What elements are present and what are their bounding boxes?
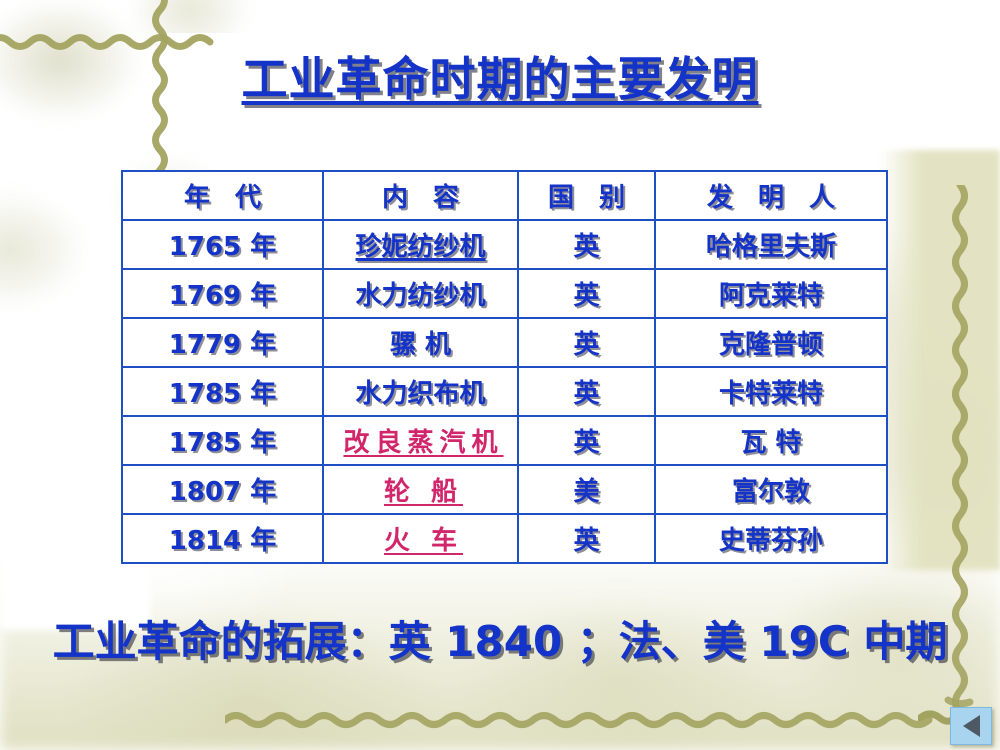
cell-text: 阿克莱特 [719,281,823,311]
cell-inventor-6: 史蒂芬孙 [655,514,887,563]
cell-year-3: 1785 年 [122,367,323,416]
cell-inventor-5: 富尔敦 [655,465,887,514]
cell-year-5: 1807 年 [122,465,323,514]
cell-text: 哈格里夫斯 [706,232,836,262]
cell-text: 富尔敦 [732,477,810,507]
cell-item-6: 火 车 [323,514,518,563]
cell-inventor-1: 阿克莱特 [655,269,887,318]
cell-item-0: 珍妮纺纱机 [323,220,518,269]
cell-inventor-2: 克隆普顿 [655,318,887,367]
background-khaki-panel [880,150,1000,570]
cell-inventor-4: 瓦 特 [655,416,887,465]
cell-year-6: 1814 年 [122,514,323,563]
cell-year-2: 1779 年 [122,318,323,367]
cell-text: 火 车 [378,520,463,557]
cell-nation-2: 英 [518,318,655,367]
cell-item-5: 轮 船 [323,465,518,514]
cell-year-4: 1785 年 [122,416,323,465]
table-row: 1814 年火 车英史蒂芬孙 [122,514,887,563]
column-header-nation: 国 别 [518,171,655,220]
cell-text: 瓦 特 [740,428,801,458]
cell-inventor-3: 卡特莱特 [655,367,887,416]
cell-text: 轮 船 [378,471,463,508]
cell-text: 英 [573,428,599,458]
cell-year-0: 1765 年 [122,220,323,269]
cell-text: 英 [573,330,599,360]
cell-nation-4: 英 [518,416,655,465]
cell-item-1: 水力纺纱机 [323,269,518,318]
inventions-table-body: 年 代 内 容 国 别 发 明 人 1765 年珍妮纺纱机英哈格里夫斯1769 … [122,171,887,563]
cell-text: 史蒂芬孙 [719,526,823,556]
cell-text: 水力织布机 [355,379,485,409]
cell-text: 卡特莱特 [719,379,823,409]
cell-text: 美 [573,477,599,507]
cell-text: 英 [573,281,599,311]
cell-text: 改良蒸汽机 [337,422,503,459]
cell-text: 1779 年 [169,330,276,360]
cell-nation-6: 英 [518,514,655,563]
cell-nation-1: 英 [518,269,655,318]
column-header-year: 年 代 [122,171,323,220]
table-row: 1785 年改良蒸汽机英瓦 特 [122,416,887,465]
cell-item-4: 改良蒸汽机 [323,416,518,465]
slide-title: 工业革命时期的主要发明 [0,43,1000,109]
presentation-slide: 工业革命时期的主要发明 年 代 内 容 国 别 发 明 人 1765 年珍妮纺纱… [0,0,1000,750]
vine-horizontal-bottom-icon [225,700,945,740]
cell-text: 克隆普顿 [719,330,823,360]
inventions-table: 年 代 内 容 国 别 发 明 人 1765 年珍妮纺纱机英哈格里夫斯1769 … [121,170,888,564]
cell-text: 水力纺纱机 [355,281,485,311]
table-header-row: 年 代 内 容 国 别 发 明 人 [122,171,887,220]
cell-text: 英 [573,232,599,262]
cell-text: 1769 年 [169,281,276,311]
cell-text: 珍妮纺纱机 [355,232,485,262]
column-header-inventor: 发 明 人 [655,171,887,220]
table-row: 1785 年水力织布机英卡特莱特 [122,367,887,416]
cell-nation-3: 英 [518,367,655,416]
table-row: 1807 年轮 船美富尔敦 [122,465,887,514]
cell-item-3: 水力织布机 [323,367,518,416]
table-row: 1769 年水力纺纱机英阿克莱特 [122,269,887,318]
cell-text: 1785 年 [169,379,276,409]
table-row: 1779 年骡 机英克隆普顿 [122,318,887,367]
cell-text: 1807 年 [169,477,276,507]
triangle-left-icon [963,715,980,737]
cell-nation-5: 美 [518,465,655,514]
cell-text: 英 [573,379,599,409]
cell-nation-0: 英 [518,220,655,269]
cell-text: 1814 年 [169,526,276,556]
cell-text: 骡 机 [390,330,451,360]
nav-back-button[interactable] [950,707,992,745]
cell-year-1: 1769 年 [122,269,323,318]
cell-text: 英 [573,526,599,556]
bottom-caption: 工业革命的拓展：英 1840 ；法、美 19C 中期 [0,608,1000,669]
cell-inventor-0: 哈格里夫斯 [655,220,887,269]
cell-item-2: 骡 机 [323,318,518,367]
column-header-item: 内 容 [323,171,518,220]
cell-text: 1765 年 [169,232,276,262]
cell-text: 1785 年 [169,428,276,458]
table-row: 1765 年珍妮纺纱机英哈格里夫斯 [122,220,887,269]
